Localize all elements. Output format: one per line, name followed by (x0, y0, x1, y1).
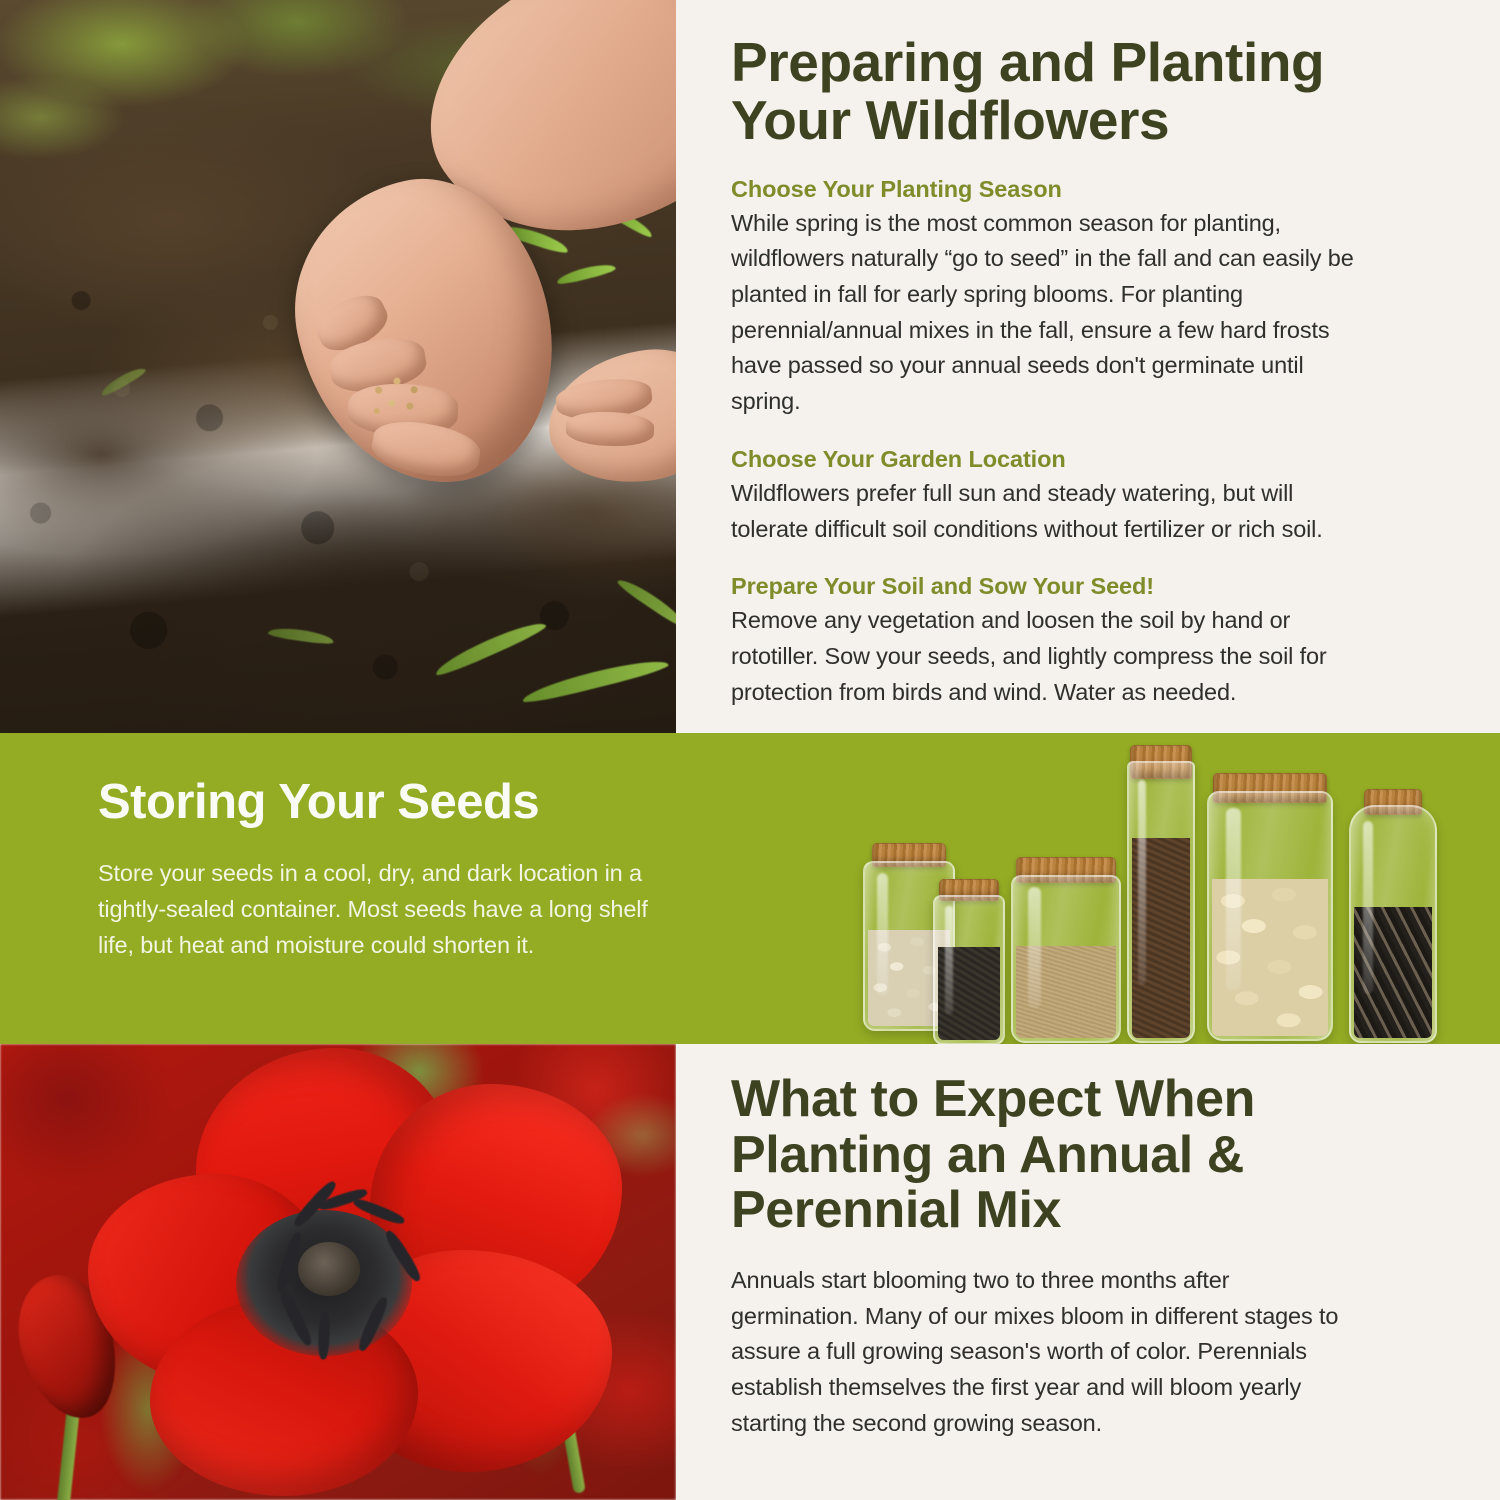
body-line: starting the second growing season. (731, 1406, 1454, 1442)
storing-body: Store your seeds in a cool, dry, and dar… (98, 856, 758, 963)
expect-heading: What to Expect When Planting an Annual &… (731, 1072, 1454, 1239)
body-line: have passed so your annual seeds don't g… (731, 348, 1454, 384)
glass-highlight (945, 906, 953, 1014)
planting-block-location: Choose Your Garden Location Wildflowers … (731, 446, 1454, 547)
jar-brown-seeds (1127, 761, 1195, 1043)
glass-body (1011, 875, 1121, 1043)
planting-heading-line2: Your Wildflowers (731, 92, 1454, 150)
glass-body (933, 895, 1005, 1044)
expect-body: Annuals start blooming two to three mont… (731, 1263, 1454, 1442)
glass-highlight (1028, 887, 1041, 1008)
glass-highlight (1138, 780, 1146, 986)
body-line: life, but heat and moisture could shorte… (98, 928, 758, 964)
infographic-page: Preparing and Planting Your Wildflowers … (0, 0, 1500, 1500)
poppy-photo (0, 1044, 676, 1500)
body-line: tolerate difficult soil conditions witho… (731, 512, 1454, 548)
planting-photo (0, 0, 676, 733)
storing-text-block: Storing Your Seeds Store your seeds in a… (98, 777, 758, 964)
body-line: Annuals start blooming two to three mont… (731, 1263, 1454, 1299)
glass-body (1207, 791, 1333, 1041)
expect-heading-line2: Planting an Annual & (731, 1128, 1454, 1184)
body-line: rototiller. Sow your seeds, and lightly … (731, 639, 1454, 675)
body-planting-season: While spring is the most common season f… (731, 206, 1454, 420)
body-line: wildflowers naturally “go to seed” in th… (731, 241, 1454, 277)
subheading-planting-season: Choose Your Planting Season (731, 176, 1454, 203)
body-line: tightly-sealed container. Most seeds hav… (98, 892, 758, 928)
body-line: planted in fall for early spring blooms.… (731, 277, 1454, 313)
storing-heading: Storing Your Seeds (98, 777, 758, 828)
body-garden-location: Wildflowers prefer full sun and steady w… (731, 476, 1454, 547)
body-line: Store your seeds in a cool, dry, and dar… (98, 856, 758, 892)
jar-sunflower-seeds (1349, 805, 1437, 1043)
body-line: assure a full growing season's worth of … (731, 1334, 1454, 1370)
subheading-prepare-soil: Prepare Your Soil and Sow Your Seed! (731, 573, 1454, 600)
poppy-pistil (298, 1242, 360, 1296)
jar-black-seeds (933, 895, 1005, 1044)
body-line: germination. Many of our mixes bloom in … (731, 1299, 1454, 1335)
glass-highlight (877, 873, 888, 996)
body-line: establish themselves the first year and … (731, 1370, 1454, 1406)
expect-heading-line1: What to Expect When (731, 1072, 1454, 1128)
planting-heading-line1: Preparing and Planting (731, 34, 1454, 92)
expect-text-panel: What to Expect When Planting an Annual &… (676, 1044, 1500, 1500)
glass-body (1127, 761, 1195, 1043)
body-line: Remove any vegetation and loosen the soi… (731, 603, 1454, 639)
storing-seeds-band: Storing Your Seeds Store your seeds in a… (0, 733, 1500, 1044)
body-prepare-soil: Remove any vegetation and loosen the soi… (731, 603, 1454, 710)
body-line: perennial/annual mixes in the fall, ensu… (731, 313, 1454, 349)
glass-highlight (1226, 808, 1241, 990)
body-line: While spring is the most common season f… (731, 206, 1454, 242)
glass-highlight (1363, 821, 1373, 994)
planting-heading: Preparing and Planting Your Wildflowers (731, 34, 1454, 150)
body-line: Wildflowers prefer full sun and steady w… (731, 476, 1454, 512)
jar-pumpkin-seeds (1207, 791, 1333, 1041)
seed-jars-photo (855, 743, 1475, 1043)
jar-tiny-seeds (1011, 875, 1121, 1043)
body-line: protection from birds and wind. Water as… (731, 675, 1454, 711)
expect-heading-line3: Perennial Mix (731, 1183, 1454, 1239)
glass-body (1349, 805, 1437, 1043)
subheading-garden-location: Choose Your Garden Location (731, 446, 1454, 473)
planting-text-panel: Preparing and Planting Your Wildflowers … (676, 0, 1500, 733)
body-line: spring. (731, 384, 1454, 420)
planting-block-season: Choose Your Planting Season While spring… (731, 176, 1454, 420)
planting-block-soil: Prepare Your Soil and Sow Your Seed! Rem… (731, 573, 1454, 710)
